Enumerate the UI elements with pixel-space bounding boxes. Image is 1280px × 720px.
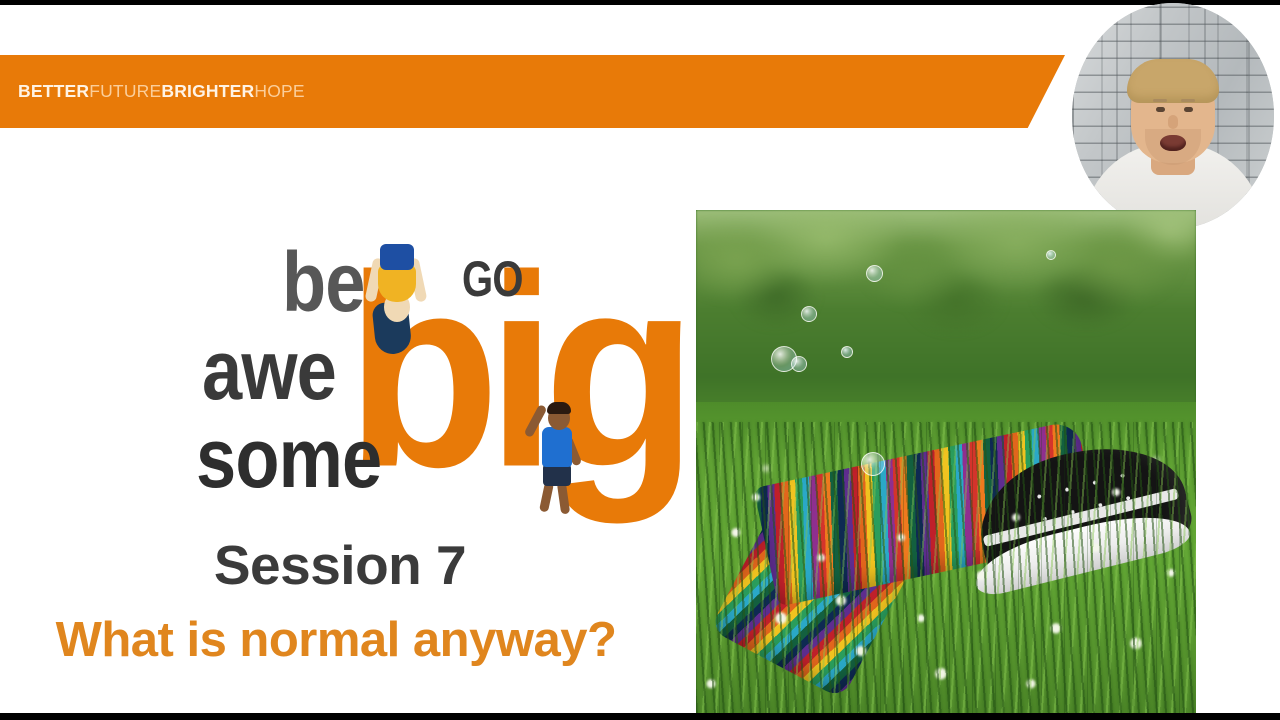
presenter-webcam-bubble[interactable]: [1072, 3, 1274, 229]
presenter-hair: [1127, 59, 1219, 103]
logo-word-go: GO: [462, 250, 523, 308]
presenter-eyebrow-right: [1181, 99, 1195, 102]
soap-bubble: [861, 452, 885, 476]
banner-word-brighter: BRIGHTER: [161, 81, 254, 101]
jumping-boy-illustration: [526, 394, 584, 510]
boy-leg-right: [557, 482, 570, 515]
photo-grass-blades-sharp: [696, 422, 1196, 714]
boy-hair: [547, 402, 571, 414]
presenter-eye-left: [1156, 107, 1165, 112]
brand-banner-text: BETTERFUTUREBRIGHTERHOPE: [18, 83, 305, 101]
meadow-photo: [696, 210, 1196, 714]
presenter-figure: [1072, 3, 1274, 229]
session-question-title: What is normal anyway?: [0, 612, 672, 668]
banner-word-future: FUTURE: [89, 81, 161, 101]
presenter-mouth: [1160, 135, 1186, 151]
presenter-eye-right: [1184, 107, 1193, 112]
banner-word-better: BETTER: [18, 81, 89, 101]
climbing-girl-illustration: [368, 240, 428, 352]
logo-word-some: some: [196, 416, 381, 500]
letterbox-bar-bottom: [0, 713, 1280, 720]
soap-bubble: [801, 306, 817, 322]
presenter-nose: [1168, 115, 1178, 129]
presentation-slide: BETTERFUTUREBRIGHTERHOPE big be awe some…: [0, 0, 1280, 720]
boy-shirt: [542, 427, 572, 467]
logo-word-be: be: [282, 240, 365, 324]
presenter-eyebrow-left: [1153, 99, 1167, 102]
banner-word-hope: HOPE: [254, 81, 304, 101]
be-awesome-go-big-logo: big be awe some GO The PiXL Club Ltd in …: [196, 236, 636, 514]
boy-leg-left: [539, 481, 554, 512]
boy-shorts: [543, 464, 571, 486]
girl-shorts: [380, 244, 414, 270]
session-title: Session 7: [0, 533, 680, 597]
brand-banner: BETTERFUTUREBRIGHTERHOPE: [0, 55, 1065, 128]
soap-bubble: [841, 346, 853, 358]
logo-word-awe: awe: [202, 328, 336, 412]
